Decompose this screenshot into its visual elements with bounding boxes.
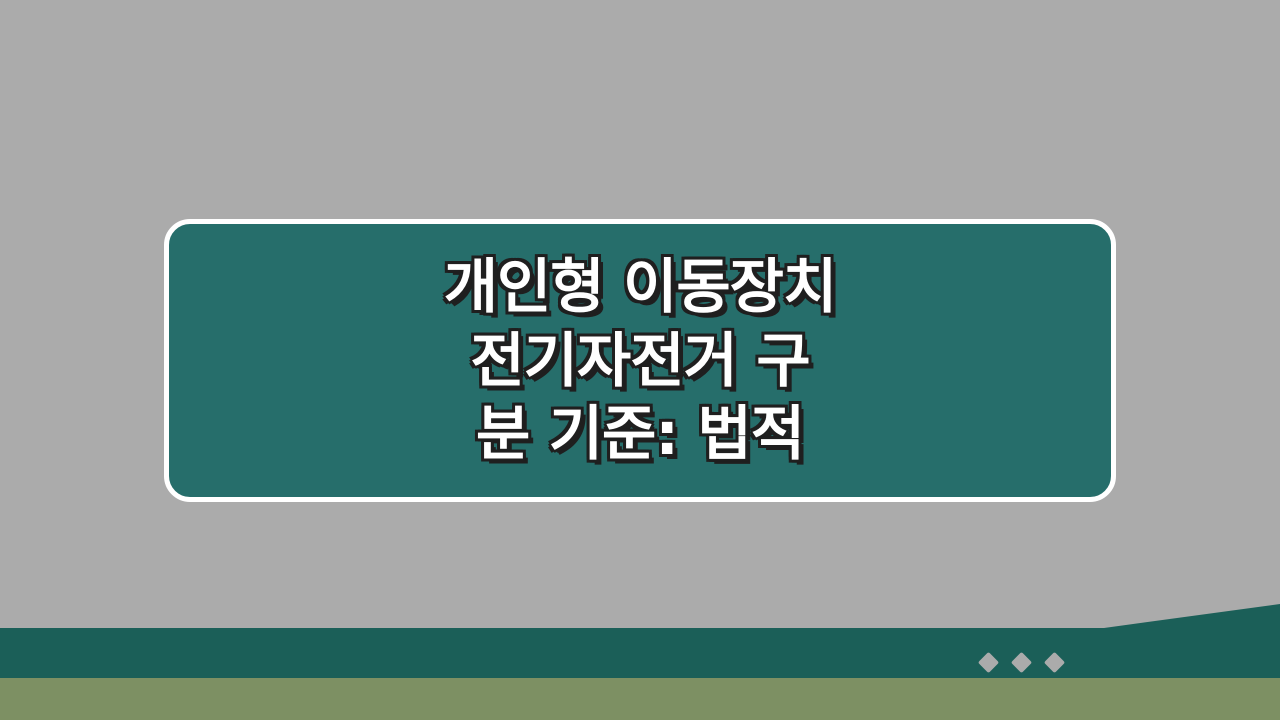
teal-band-notch [1070, 604, 1280, 628]
diamond-icon [1011, 652, 1032, 673]
diamond-icon [978, 652, 999, 673]
diamond-icon [1044, 652, 1065, 673]
diamond-ornament-group [981, 655, 1062, 670]
title-card: 개인형 이동장치 전기자전거 구 분 기준: 법적 [164, 219, 1116, 502]
bottom-green-band [0, 678, 1280, 720]
bottom-teal-band [0, 628, 1280, 678]
page-title: 개인형 이동장치 전기자전거 구 분 기준: 법적 [360, 250, 920, 471]
slide-canvas: 개인형 이동장치 전기자전거 구 분 기준: 법적 [0, 0, 1280, 720]
